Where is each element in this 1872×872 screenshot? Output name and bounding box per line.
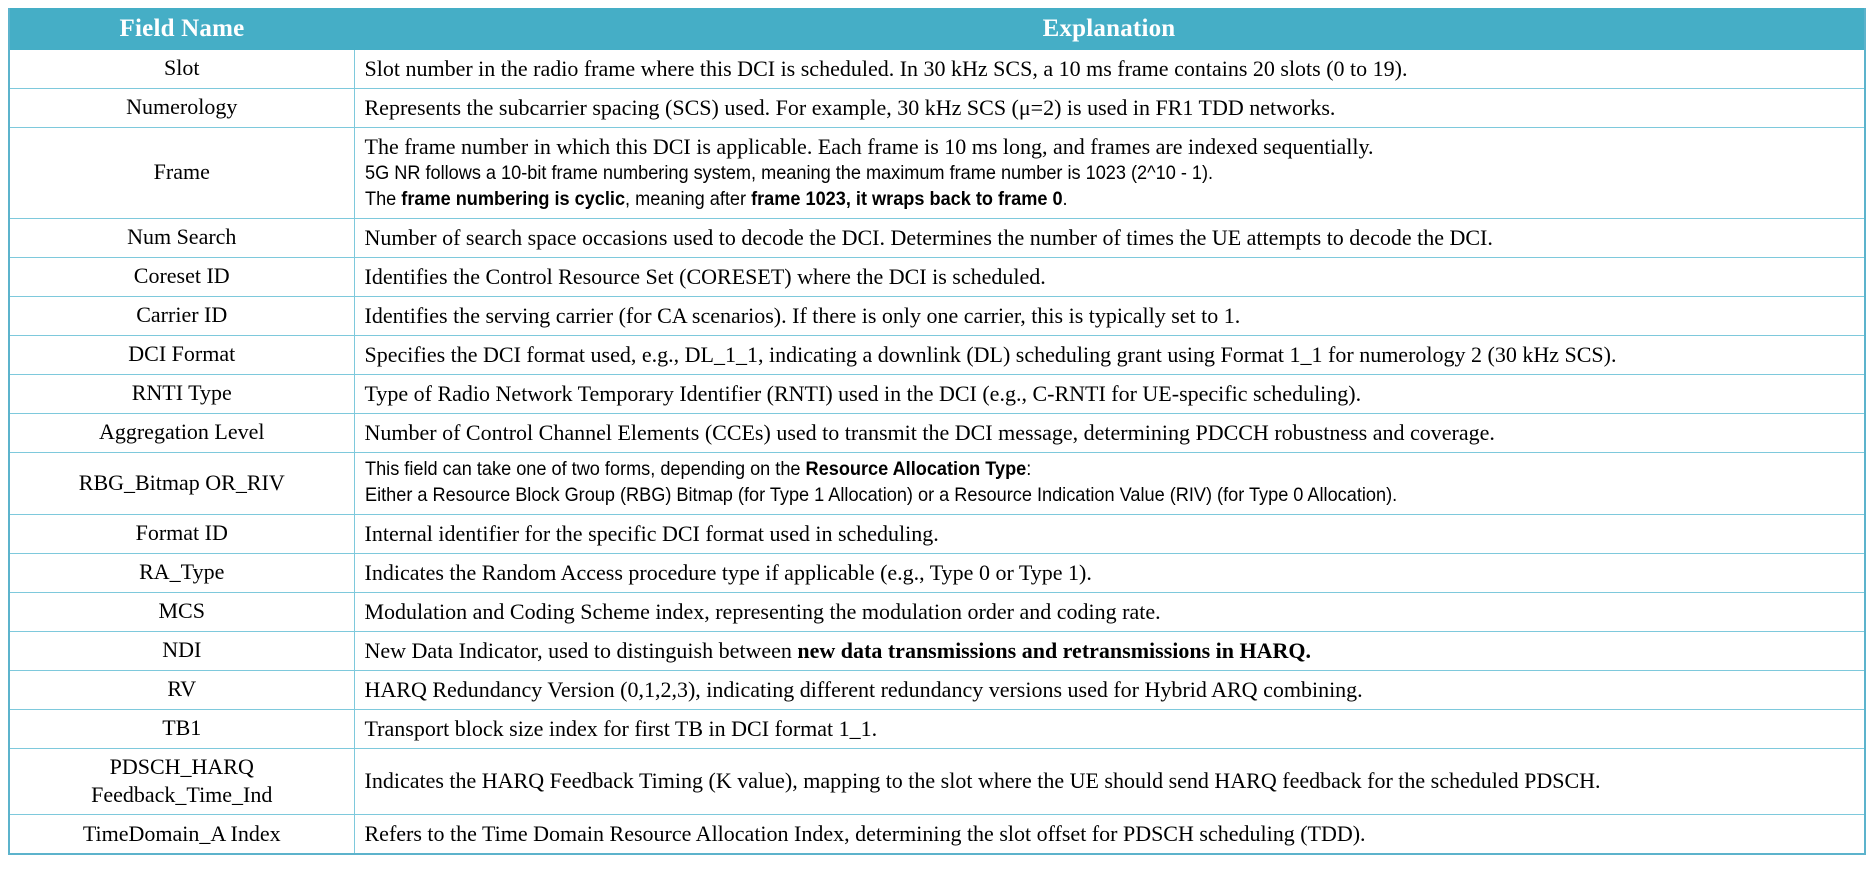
table-row: Format IDInternal identifier for the spe… [9, 514, 1865, 553]
field-name-cell: Aggregation Level [9, 413, 354, 452]
table-row: Aggregation LevelNumber of Control Chann… [9, 413, 1865, 452]
table-row: MCSModulation and Coding Scheme index, r… [9, 592, 1865, 631]
field-name-cell: Slot [9, 50, 354, 89]
dci-field-explanation-table: Field Name Explanation SlotSlot number i… [8, 8, 1866, 855]
field-name-cell: Numerology [9, 89, 354, 128]
table-row: RVHARQ Redundancy Version (0,1,2,3), ind… [9, 670, 1865, 709]
table-row: Coreset IDIdentifies the Control Resourc… [9, 257, 1865, 296]
table-row: Carrier IDIdentifies the serving carrier… [9, 296, 1865, 335]
explanation-line: Internal identifier for the specific DCI… [365, 519, 1857, 548]
field-name-cell: RV [9, 670, 354, 709]
field-name-cell: NDI [9, 631, 354, 670]
explanation-line: Represents the subcarrier spacing (SCS) … [365, 93, 1857, 122]
explanation-line: Modulation and Coding Scheme index, repr… [365, 597, 1857, 626]
field-name-cell: RA_Type [9, 553, 354, 592]
explanation-line: Number of Control Channel Elements (CCEs… [365, 418, 1857, 447]
explanation-cell: HARQ Redundancy Version (0,1,2,3), indic… [354, 670, 1865, 709]
field-name-cell: RNTI Type [9, 374, 354, 413]
field-name-cell: Carrier ID [9, 296, 354, 335]
explanation-cell: New Data Indicator, used to distinguish … [354, 631, 1865, 670]
explanation-line: Specifies the DCI format used, e.g., DL_… [365, 340, 1857, 369]
explanation-cell: Internal identifier for the specific DCI… [354, 514, 1865, 553]
column-header-explanation: Explanation [354, 8, 1865, 50]
field-name-cell: TimeDomain_A Index [9, 815, 354, 855]
explanation-line: Refers to the Time Domain Resource Alloc… [365, 819, 1857, 848]
explanation-cell: Indicates the Random Access procedure ty… [354, 553, 1865, 592]
field-name-cell: MCS [9, 592, 354, 631]
explanation-line: New Data Indicator, used to distinguish … [365, 636, 1857, 665]
table-row: DCI FormatSpecifies the DCI format used,… [9, 335, 1865, 374]
explanation-cell: Modulation and Coding Scheme index, repr… [354, 592, 1865, 631]
table-row: Num SearchNumber of search space occasio… [9, 218, 1865, 257]
explanation-cell: Indicates the HARQ Feedback Timing (K va… [354, 748, 1865, 814]
field-name-cell: Frame [9, 128, 354, 219]
explanation-line: HARQ Redundancy Version (0,1,2,3), indic… [365, 675, 1857, 704]
table-row: PDSCH_HARQFeedback_Time_IndIndicates the… [9, 748, 1865, 814]
explanation-cell: Specifies the DCI format used, e.g., DL_… [354, 335, 1865, 374]
field-name-cell: TB1 [9, 709, 354, 748]
explanation-line: Identifies the serving carrier (for CA s… [365, 301, 1857, 330]
explanation-cell: Transport block size index for first TB … [354, 709, 1865, 748]
explanation-line: The frame numbering is cyclic, meaning a… [365, 187, 1752, 213]
explanation-line: Indicates the HARQ Feedback Timing (K va… [365, 766, 1857, 795]
field-name-cell: PDSCH_HARQFeedback_Time_Ind [9, 748, 354, 814]
explanation-cell: Identifies the Control Resource Set (COR… [354, 257, 1865, 296]
explanation-line: 5G NR follows a 10-bit frame numbering s… [365, 161, 1752, 187]
table-row: NumerologyRepresents the subcarrier spac… [9, 89, 1865, 128]
table-row: FrameThe frame number in which this DCI … [9, 128, 1865, 219]
table-container: Field Name Explanation SlotSlot number i… [0, 0, 1872, 855]
table-row: RBG_Bitmap OR_RIVThis field can take one… [9, 452, 1865, 514]
explanation-cell: Type of Radio Network Temporary Identifi… [354, 374, 1865, 413]
field-name-cell: DCI Format [9, 335, 354, 374]
field-name-cell: Num Search [9, 218, 354, 257]
explanation-cell: This field can take one of two forms, de… [354, 452, 1865, 514]
table-row: SlotSlot number in the radio frame where… [9, 50, 1865, 89]
explanation-line: Slot number in the radio frame where thi… [365, 54, 1857, 83]
explanation-line: Indicates the Random Access procedure ty… [365, 558, 1857, 587]
field-name-cell: RBG_Bitmap OR_RIV [9, 452, 354, 514]
explanation-line: Type of Radio Network Temporary Identifi… [365, 379, 1857, 408]
explanation-line: Identifies the Control Resource Set (COR… [365, 262, 1857, 291]
table-row: NDINew Data Indicator, used to distingui… [9, 631, 1865, 670]
explanation-line: Transport block size index for first TB … [365, 714, 1857, 743]
column-header-field-name: Field Name [9, 8, 354, 50]
field-name-cell: Coreset ID [9, 257, 354, 296]
table-row: RA_TypeIndicates the Random Access proce… [9, 553, 1865, 592]
field-name-line: PDSCH_HARQ [16, 753, 348, 781]
explanation-line: Either a Resource Block Group (RBG) Bitm… [365, 483, 1752, 509]
table-row: TimeDomain_A IndexRefers to the Time Dom… [9, 815, 1865, 855]
explanation-cell: Identifies the serving carrier (for CA s… [354, 296, 1865, 335]
table-row: RNTI TypeType of Radio Network Temporary… [9, 374, 1865, 413]
explanation-cell: Refers to the Time Domain Resource Alloc… [354, 815, 1865, 855]
field-name-line: Feedback_Time_Ind [16, 781, 348, 809]
table-row: TB1Transport block size index for first … [9, 709, 1865, 748]
explanation-line: The frame number in which this DCI is ap… [365, 132, 1857, 161]
header-row: Field Name Explanation [9, 8, 1865, 50]
explanation-cell: The frame number in which this DCI is ap… [354, 128, 1865, 219]
explanation-cell: Represents the subcarrier spacing (SCS) … [354, 89, 1865, 128]
table-body: SlotSlot number in the radio frame where… [9, 50, 1865, 854]
explanation-cell: Number of search space occasions used to… [354, 218, 1865, 257]
explanation-cell: Slot number in the radio frame where thi… [354, 50, 1865, 89]
explanation-line: This field can take one of two forms, de… [365, 457, 1752, 483]
explanation-cell: Number of Control Channel Elements (CCEs… [354, 413, 1865, 452]
field-name-cell: Format ID [9, 514, 354, 553]
explanation-line: Number of search space occasions used to… [365, 223, 1857, 252]
table-header: Field Name Explanation [9, 8, 1865, 50]
